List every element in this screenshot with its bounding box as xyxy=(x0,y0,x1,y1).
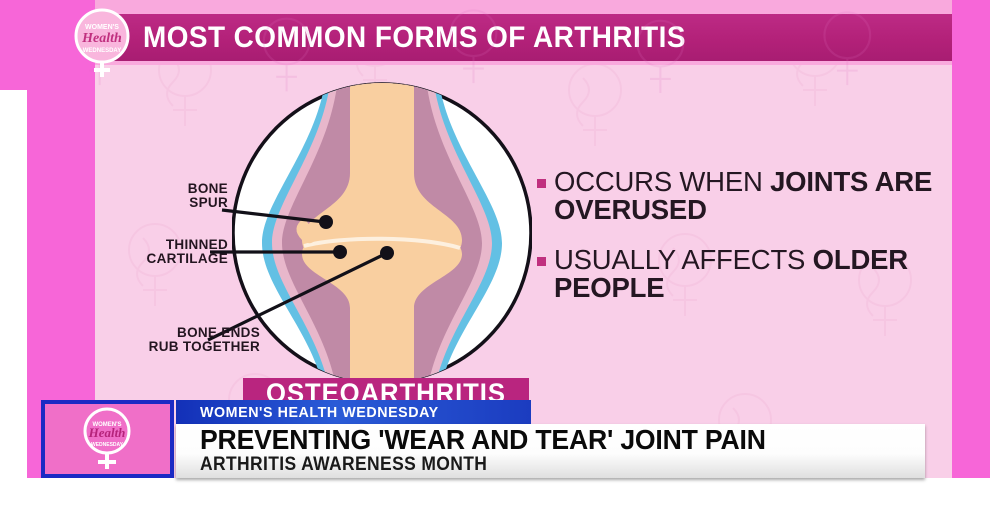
label-thinned-cartilage: THINNED CARTILAGE xyxy=(100,238,228,266)
headline-text: PREVENTING 'WEAR AND TEAR' JOINT PAIN xyxy=(200,424,766,456)
lower-third-logo-box: WOMEN'S Health WEDNESDAY xyxy=(41,400,174,478)
bullet-item-1: OCCURS WHEN JOINTS ARE OVERUSED xyxy=(537,168,947,224)
bullet-text-2: USUALLY AFFECTS OLDER PEOPLE xyxy=(554,246,947,302)
bullet-square-icon xyxy=(537,257,546,266)
broadcast-screenshot: MOST COMMON FORMS OF ARTHRITIS WOMEN'S H… xyxy=(0,0,1000,525)
subline-text: ARTHRITIS AWARENESS MONTH xyxy=(200,454,487,476)
right-pink-band xyxy=(952,0,990,478)
bullet-item-2: USUALLY AFFECTS OLDER PEOPLE xyxy=(537,246,947,302)
lower-third-banner: WOMEN'S Health WEDNESDAY WOMEN'S HEALTH … xyxy=(41,398,925,480)
bullet-list: OCCURS WHEN JOINTS ARE OVERUSED USUALLY … xyxy=(537,168,947,324)
bullet-1-light: OCCURS WHEN xyxy=(554,166,770,197)
graphic-title-bar: MOST COMMON FORMS OF ARTHRITIS xyxy=(95,14,952,61)
title-top-strip xyxy=(95,0,952,14)
badge-line1: WOMEN'S xyxy=(85,24,119,31)
page-title: MOST COMMON FORMS OF ARTHRITIS xyxy=(143,21,686,55)
kicker-text: WOMEN'S HEALTH WEDNESDAY xyxy=(200,404,439,421)
badge-line3: WEDNESDAY xyxy=(83,48,121,54)
womens-health-wednesday-logo-icon: WOMEN'S Health WEDNESDAY xyxy=(45,404,170,474)
bullet-text-1: OCCURS WHEN JOINTS ARE OVERUSED xyxy=(554,168,947,224)
lower-third-kicker-bar: WOMEN'S HEALTH WEDNESDAY xyxy=(176,400,531,424)
lower-logo-line2: Health xyxy=(88,425,126,440)
label-bone-ends-rub-together: BONE ENDS RUB TOGETHER xyxy=(108,326,260,354)
womens-health-wednesday-badge-icon: WOMEN'S Health WEDNESDAY xyxy=(64,6,140,82)
bullet-square-icon xyxy=(537,179,546,188)
label-bone-spur: BONE SPUR xyxy=(118,182,228,210)
badge-line2: Health xyxy=(81,31,122,46)
lower-logo-line3: WEDNESDAY xyxy=(91,442,124,448)
title-underline xyxy=(95,61,952,65)
lower-third-headline-box: PREVENTING 'WEAR AND TEAR' JOINT PAIN AR… xyxy=(176,424,925,478)
bullet-2-light: USUALLY AFFECTS xyxy=(554,244,813,275)
